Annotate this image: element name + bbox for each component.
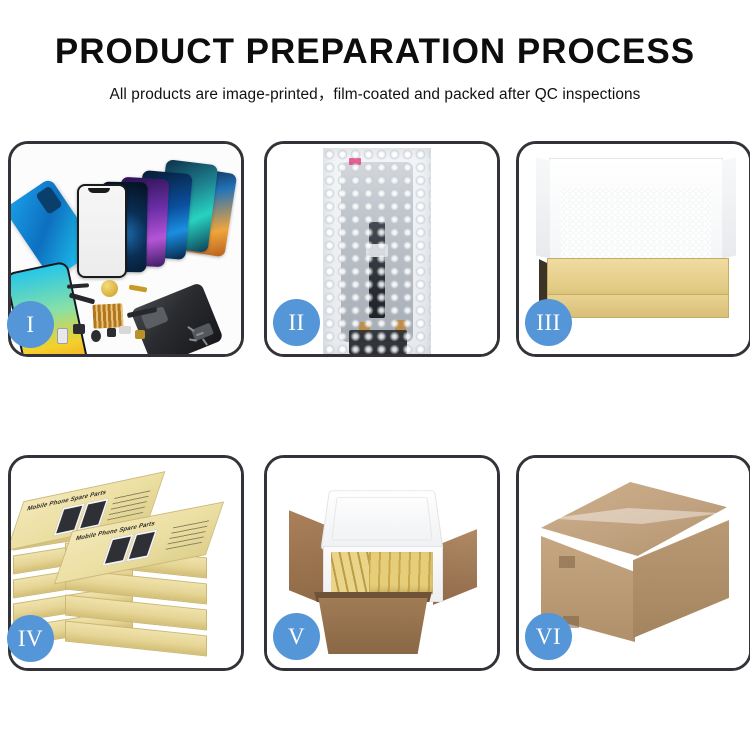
process-step-card-6[interactable]: VI [516, 455, 750, 671]
step-badge-4: IV [7, 615, 54, 662]
lcd-driver-ic-shape [366, 244, 388, 257]
flex-cable-shape-4 [129, 284, 148, 292]
process-step-card-3[interactable]: III [516, 141, 750, 357]
carton-body-shape [311, 598, 435, 654]
small-part-shape-4 [119, 326, 131, 334]
small-part-shape-5 [57, 328, 68, 344]
step-badge-6: VI [525, 613, 572, 660]
box-print-spec-lines-1 [107, 487, 152, 521]
carton-tab-shape-1 [559, 556, 575, 568]
box-print-spec-lines-2 [166, 517, 211, 550]
step-badge-2: II [273, 299, 320, 346]
lcd-ribbon-cable-shape [369, 222, 385, 318]
white-foam-sheet-shape [561, 188, 711, 260]
step-badge-1: I [7, 301, 54, 348]
small-part-shape-1 [73, 324, 85, 334]
speaker-part-shape [101, 280, 118, 297]
styrofoam-lid-shape [320, 490, 443, 550]
small-part-shape-6 [135, 330, 145, 339]
flex-cable-shape-3 [67, 283, 89, 289]
yellow-boxes-stack-side-shape [331, 552, 369, 594]
step-badge-5: V [273, 613, 320, 660]
bubble-wrap-bag-shape [323, 148, 431, 354]
phone-screen-shape-1 [77, 184, 127, 278]
process-step-card-2[interactable]: II [264, 141, 500, 357]
small-part-shape-3 [107, 328, 116, 337]
process-step-card-1[interactable]: I [8, 141, 244, 357]
process-step-card-5[interactable]: V [264, 455, 500, 671]
process-step-card-4[interactable]: Mobile Phone Spare Parts Mobile Phone Sp… [8, 455, 244, 671]
pink-qc-sticker-shape [349, 158, 361, 165]
step-badge-3: III [525, 299, 572, 346]
screws-group-shape [187, 328, 213, 346]
small-part-shape-2 [91, 330, 101, 342]
lcd-connector-shape [349, 330, 407, 354]
kraft-tray-front-shape [547, 294, 729, 318]
chip-grid-shape [92, 303, 123, 329]
process-step-grid: I II [0, 0, 750, 750]
